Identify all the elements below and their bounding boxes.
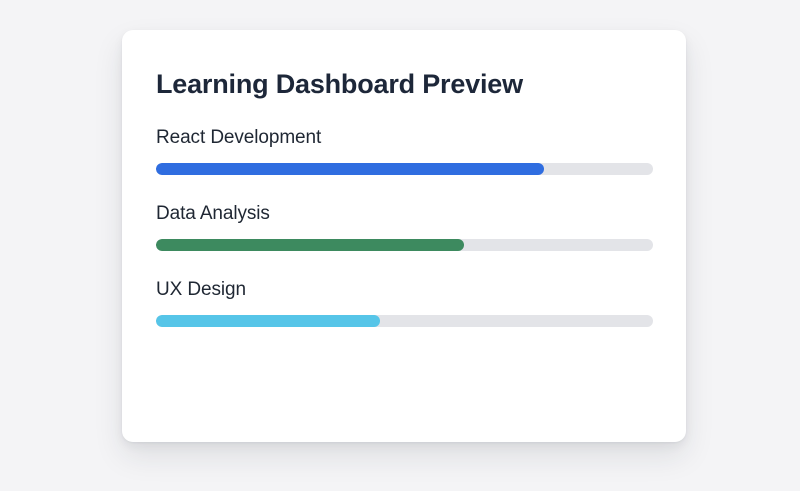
list-item: UX Design: [156, 278, 652, 327]
progress-label: React Development: [156, 126, 652, 149]
progress-label: Data Analysis: [156, 202, 652, 225]
progress-label: UX Design: [156, 278, 652, 301]
progress-track: [156, 239, 653, 251]
list-item: Data Analysis: [156, 202, 652, 251]
progress-track: [156, 315, 653, 327]
progress-list: React Development Data Analysis UX Desig…: [156, 126, 652, 327]
progress-track: [156, 163, 653, 175]
page-title: Learning Dashboard Preview: [156, 68, 652, 100]
progress-fill: [156, 315, 380, 327]
progress-fill: [156, 239, 464, 251]
page-root: Learning Dashboard Preview React Develop…: [0, 0, 800, 491]
learning-dashboard-card: Learning Dashboard Preview React Develop…: [122, 30, 686, 442]
progress-fill: [156, 163, 544, 175]
list-item: React Development: [156, 126, 652, 175]
